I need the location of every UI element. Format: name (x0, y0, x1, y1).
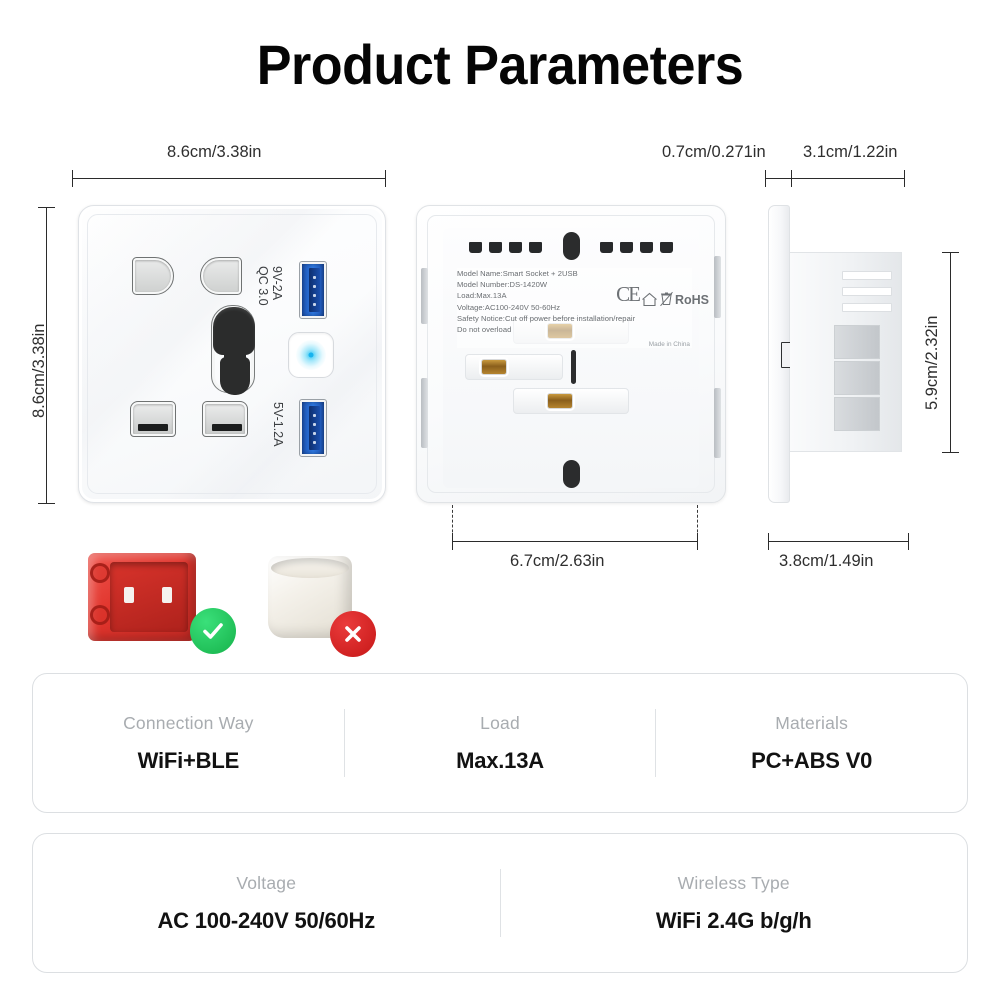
spec-label: Connection Way (123, 713, 254, 734)
mounting-clip-right-top (714, 256, 721, 318)
side-vent-slot (842, 287, 892, 296)
socket-hole-bottom-right (203, 402, 247, 436)
vent-oval-top (563, 232, 580, 260)
dimension-side-height-line (950, 252, 951, 452)
dimension-tick (904, 170, 905, 187)
label-line-safety-notice: Safety Notice:Cut off power before insta… (457, 313, 692, 324)
dimension-tick (38, 503, 55, 504)
spec-value: WiFi+BLE (138, 748, 239, 774)
dimension-tick (72, 170, 73, 187)
dimension-side-width-label: 3.8cm/1.49in (779, 552, 873, 571)
spec-load: Load Max.13A (345, 713, 656, 774)
usb-port-top (300, 262, 326, 318)
mounting-clip-left-bottom (421, 378, 428, 448)
dimension-front-width-label: 8.6cm/3.38in (167, 143, 261, 162)
terminal-screw-middle (481, 359, 507, 375)
dimension-front-height-line (46, 207, 47, 503)
check-icon (200, 618, 226, 644)
dimension-back-width-label: 6.7cm/2.63in (510, 552, 604, 571)
approved-wall-box (88, 553, 196, 641)
certification-marks: CE RoHS (616, 282, 709, 307)
dimension-side-width-line (768, 541, 908, 542)
dimension-tick (942, 252, 959, 253)
house-icon (641, 292, 658, 307)
side-vent-slot (842, 303, 892, 312)
terminal-slot (571, 350, 576, 384)
spec-connection-way: Connection Way WiFi+BLE (33, 713, 344, 774)
socket-hole-bottom-left (131, 402, 175, 436)
dimension-tick (791, 170, 792, 187)
spec-card-secondary: Voltage AC 100-240V 50/60Hz Wireless Typ… (32, 833, 968, 973)
spec-label: Materials (775, 713, 848, 734)
usb-port-bottom (300, 400, 326, 456)
dimension-body-depth-label: 3.1cm/1.22in (803, 143, 897, 162)
socket-hole-top-left (133, 258, 173, 294)
mounting-clip-right-bottom (714, 388, 721, 458)
vent-row-left (469, 242, 542, 253)
usb-bottom-label: 5V-1.2A (271, 402, 285, 446)
led-indicator-button[interactable] (288, 332, 334, 378)
spec-voltage: Voltage AC 100-240V 50/60Hz (33, 873, 500, 934)
spec-label: Load (480, 713, 520, 734)
usb-top-label: 9V-2A QC 3.0 (256, 266, 284, 306)
dimension-tick (942, 452, 959, 453)
cross-badge (330, 611, 376, 657)
vent-row-right (600, 242, 673, 253)
dimension-tick (908, 533, 909, 550)
dimension-back-width-line (452, 541, 698, 542)
spec-value: PC+ABS V0 (751, 748, 872, 774)
vent-oval-bottom (563, 460, 580, 488)
dimension-tick (768, 533, 769, 550)
rohs-mark-icon: RoHS (675, 293, 709, 307)
dimension-tick (765, 170, 766, 187)
dimension-faceplate-label: 0.7cm/0.271in (662, 143, 766, 162)
label-line-do-not-overload: Do not overload (457, 324, 692, 335)
socket-hole-top-right (201, 258, 241, 294)
spec-card-primary: Connection Way WiFi+BLE Load Max.13A Mat… (32, 673, 968, 813)
label-line-model-name: Model Name:Smart Socket + 2USB (457, 268, 692, 279)
spec-value: Max.13A (456, 748, 544, 774)
side-vent-slot (842, 271, 892, 280)
dimension-tick (38, 207, 55, 208)
spec-label: Voltage (236, 873, 296, 894)
dimension-tick (385, 170, 386, 187)
dimension-side-height-label: 5.9cm/2.32in (923, 316, 942, 410)
cross-icon (341, 622, 365, 646)
spec-wireless-type: Wireless Type WiFi 2.4G b/g/h (501, 873, 968, 934)
weee-bin-icon (660, 291, 673, 307)
check-badge (190, 608, 236, 654)
side-step-block (834, 325, 880, 359)
terminal-bar-middle (465, 354, 563, 380)
spec-value: WiFi 2.4G b/g/h (656, 908, 812, 934)
socket-side-body (790, 252, 902, 452)
socket-front-view: 9V-2A QC 3.0 5V-1.2A (78, 205, 386, 503)
terminal-screw-bottom (547, 393, 573, 409)
socket-hole-center-universal (212, 306, 254, 392)
product-parameters-page: Product Parameters 8.6cm/3.38in 8.6cm/3.… (0, 0, 1000, 1000)
spec-label: Wireless Type (678, 873, 790, 894)
spec-materials: Materials PC+ABS V0 (656, 713, 967, 774)
dimension-tick (697, 533, 698, 550)
label-made-in: Made in China (649, 341, 690, 348)
side-step-block (834, 361, 880, 395)
side-step-block (834, 397, 880, 431)
dimension-tick (452, 533, 453, 550)
product-back-label: Model Name:Smart Socket + 2USB Model Num… (457, 268, 692, 348)
dimension-front-width-line (72, 178, 385, 179)
dimension-side-top-line (765, 178, 905, 179)
led-dot-icon (309, 353, 314, 358)
socket-back-view: Model Name:Smart Socket + 2USB Model Num… (416, 205, 726, 503)
mounting-clip-left-top (421, 268, 428, 324)
spec-value: AC 100-240V 50/60Hz (157, 908, 375, 934)
ce-mark-icon: CE (616, 282, 639, 307)
page-title: Product Parameters (35, 32, 965, 97)
